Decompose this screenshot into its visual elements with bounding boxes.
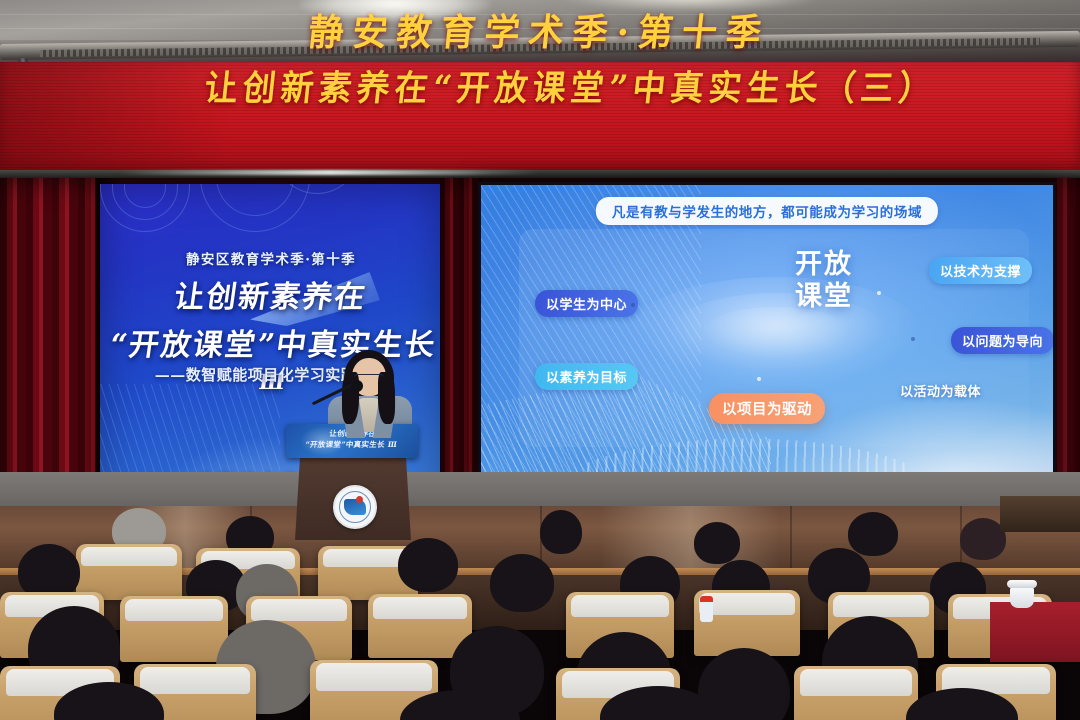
slide-center-line-1: 开放 — [739, 249, 909, 281]
backdrop-header: 静安区教育学术季·第十季 — [100, 248, 442, 268]
slide-tag-tech-support[interactable]: 以技术为支撑 — [929, 257, 1032, 284]
banner-edge-highlight — [120, 170, 540, 175]
screen-node-dot-2 — [911, 337, 915, 341]
audience-head — [848, 512, 898, 556]
stage-curtain-middle — [440, 178, 482, 518]
slide-tag-problem-oriented[interactable]: 以问题为导向 — [951, 327, 1053, 354]
microphone-head — [351, 380, 363, 392]
banner-line-2: 让创新素养在“开放课堂”中真实生长（三） — [202, 59, 939, 110]
slide-header-pill: 凡是有教与学发生的地方，都可能成为学习的场域 — [596, 197, 938, 225]
stage-curtain-left — [0, 178, 100, 518]
projection-screen-frame: 凡是有教与学发生的地方，都可能成为学习的场域 开放 课堂 以学生为中心 以素养为… — [478, 182, 1056, 482]
audience-head — [694, 522, 740, 564]
audience-area — [0, 500, 1080, 720]
slide-tag-project-driven[interactable]: 以项目为驱动 — [709, 393, 825, 424]
school-crest-logo — [333, 485, 377, 529]
water-bottle — [700, 596, 713, 622]
slide-tag-activity-carrier[interactable]: 以活动为载体 — [889, 377, 992, 404]
podium-sign-line-2: “开放课堂”中真实生长 Ⅲ — [286, 439, 418, 450]
audience-head — [398, 538, 458, 592]
side-desk — [1000, 496, 1080, 532]
teacup — [1010, 586, 1034, 608]
audience-head — [490, 554, 554, 612]
projection-screen[interactable]: 凡是有教与学发生的地方，都可能成为学习的场域 开放 课堂 以学生为中心 以素养为… — [481, 185, 1053, 479]
slide-tag-literacy-goal[interactable]: 以素养为目标 — [535, 363, 638, 390]
side-table-cloth — [990, 602, 1080, 662]
backdrop-title-line-1: 让创新素养在 — [100, 272, 442, 316]
audience-head — [540, 510, 582, 554]
screen-node-dot-4 — [757, 377, 761, 381]
screen-node-dot-1 — [631, 303, 635, 307]
auditorium-scene: 静安教育学术季·第十季 让创新素养在“开放课堂”中真实生长（三） 静安区教育学术… — [0, 0, 1080, 720]
screen-halo-3 — [701, 307, 851, 359]
slide-tag-student-centered[interactable]: 以学生为中心 — [535, 290, 638, 317]
screen-node-dot-3 — [877, 291, 881, 295]
slide-center-title: 开放 课堂 — [739, 249, 909, 313]
teacup-lid — [1007, 580, 1037, 588]
seat — [794, 666, 918, 720]
seat — [120, 596, 228, 662]
banner-line-1: 静安教育学术季·第十季 — [307, 2, 774, 56]
slide-center-line-2: 课堂 — [739, 281, 909, 313]
banner-text-block: 静安教育学术季·第十季 让创新素养在“开放课堂”中真实生长（三） — [0, 0, 1080, 112]
